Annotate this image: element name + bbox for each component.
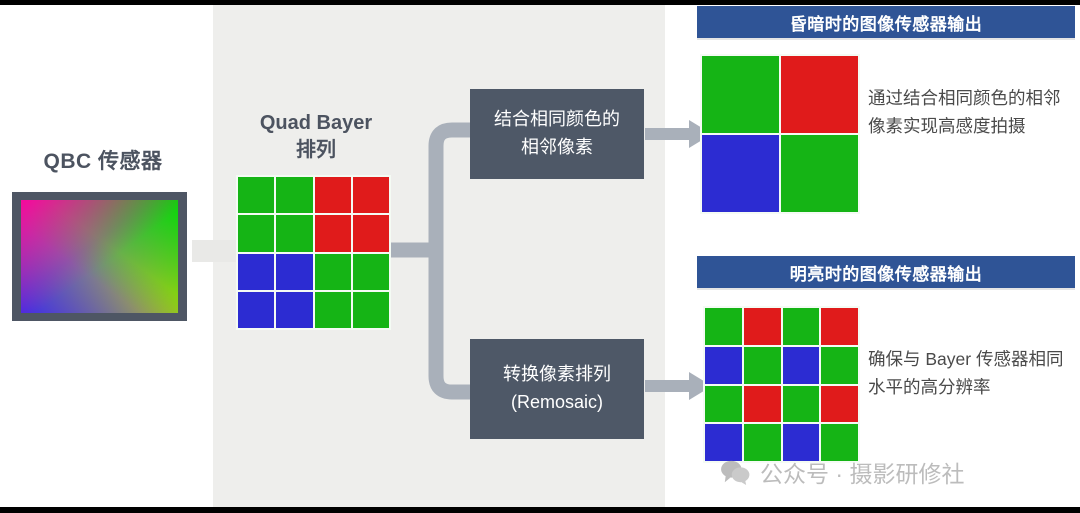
output-description-dim: 通过结合相同颜色的相邻像素实现高感度拍摄 (868, 84, 1076, 141)
pixel-cell-g-r1c1 (276, 215, 312, 251)
pixel-cell-g-r3c2 (315, 292, 351, 328)
pixel-cell-b-r1c2 (783, 347, 820, 384)
output-grid-bright (703, 306, 860, 463)
connector-sensor-to-grid (192, 240, 238, 262)
diagram-canvas: QBC 传感器 Quad Bayer 排列 结合相同颜色的 相邻像素 转换像素排… (0, 0, 1080, 513)
bottom-edge-bar (0, 507, 1080, 513)
pixel-cell-r-r1c2 (315, 215, 351, 251)
process-box-remosaic[interactable]: 转换像素排列 (Remosaic) (470, 339, 644, 439)
process-top-line1: 结合相同颜色的 (494, 106, 620, 134)
pixel-cell-g-r0c2 (783, 308, 820, 345)
pixel-cell-b-r1c0 (702, 135, 779, 212)
branch-connector (391, 118, 481, 403)
pixel-cell-g-r1c0 (238, 215, 274, 251)
pixel-cell-g-r0c0 (705, 308, 742, 345)
process-top-line2: 相邻像素 (521, 134, 593, 162)
output-header-dim: 昏暗时的图像传感器输出 (697, 6, 1075, 38)
pixel-cell-g-r1c1 (781, 135, 858, 212)
pixel-cell-b-r3c0 (238, 292, 274, 328)
process-box-binning[interactable]: 结合相同颜色的 相邻像素 (470, 89, 644, 179)
pixel-cell-r-r1c3 (353, 215, 389, 251)
pixel-cell-b-r2c1 (276, 254, 312, 290)
pixel-cell-r-r0c3 (821, 308, 858, 345)
pixel-cell-g-r0c1 (276, 177, 312, 213)
pixel-cell-b-r1c0 (705, 347, 742, 384)
pixel-cell-g-r0c0 (702, 56, 779, 133)
output-header-bright: 明亮时的图像传感器输出 (697, 256, 1075, 288)
pixel-cell-r-r0c1 (744, 308, 781, 345)
pixel-cell-r-r0c2 (315, 177, 351, 213)
qbc-sensor-gradient (21, 200, 178, 313)
pixel-cell-r-r0c1 (781, 56, 858, 133)
output-grid-dim (700, 54, 860, 214)
pixel-cell-r-r2c3 (821, 386, 858, 423)
pixel-cell-b-r3c1 (276, 292, 312, 328)
pixel-cell-g-r2c2 (783, 386, 820, 423)
pixel-cell-g-r2c2 (315, 254, 351, 290)
process-bottom-line2: (Remosaic) (511, 389, 603, 417)
quad-bayer-title: Quad Bayer 排列 (226, 110, 406, 164)
watermark-text: 公众号 · 摄影研修社 (760, 455, 964, 489)
watermark: 公众号 · 摄影研修社 (720, 455, 964, 489)
quad-bayer-title-line2: 排列 (226, 137, 406, 164)
pixel-cell-r-r2c1 (744, 386, 781, 423)
pixel-cell-r-r0c3 (353, 177, 389, 213)
output-description-bright: 确保与 Bayer 传感器相同水平的高分辨率 (868, 345, 1078, 402)
quad-bayer-grid (236, 175, 391, 330)
pixel-cell-g-r0c0 (238, 177, 274, 213)
pixel-cell-g-r2c3 (353, 254, 389, 290)
qbc-sensor-title: QBC 传感器 (8, 145, 198, 175)
quad-bayer-title-line1: Quad Bayer (226, 110, 406, 137)
wechat-icon (720, 459, 750, 485)
pixel-cell-g-r3c3 (353, 292, 389, 328)
pixel-cell-g-r2c0 (705, 386, 742, 423)
pixel-cell-g-r1c3 (821, 347, 858, 384)
pixel-cell-b-r2c0 (238, 254, 274, 290)
process-bottom-line1: 转换像素排列 (503, 361, 611, 389)
qbc-sensor-module (12, 192, 187, 321)
pixel-cell-g-r1c1 (744, 347, 781, 384)
